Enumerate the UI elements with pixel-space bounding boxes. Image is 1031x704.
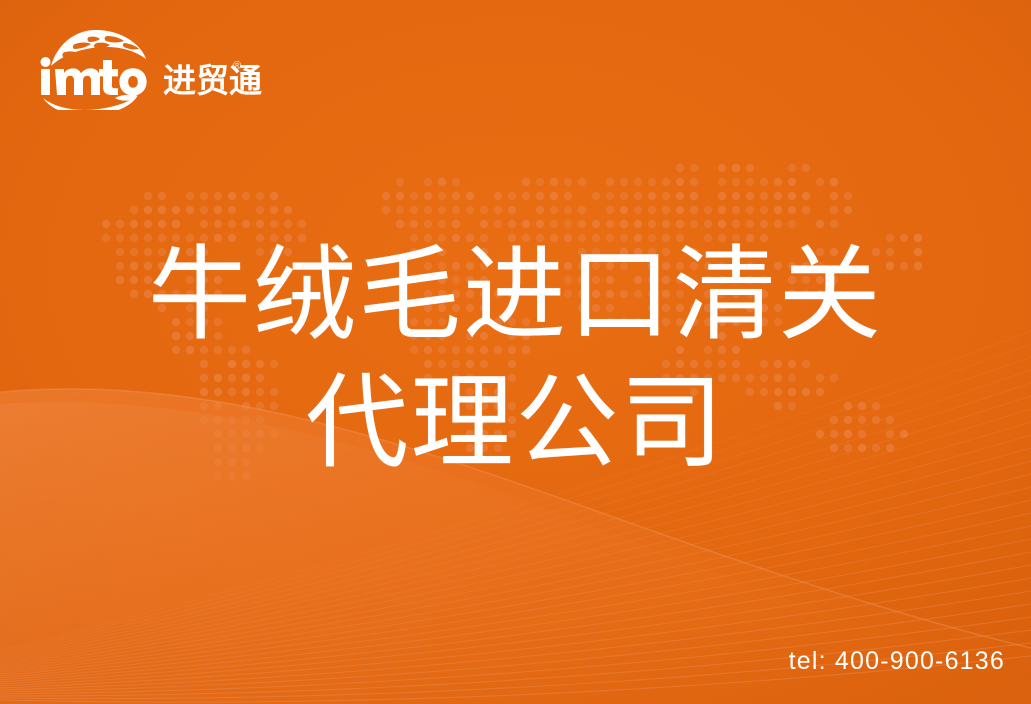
promo-banner: 进贸通 ® 牛绒毛进口清关 代理公司 tel: 400-900-6136 — [0, 0, 1031, 704]
headline-line-1: 牛绒毛进口清关 — [0, 232, 1031, 360]
contact-telephone[interactable]: tel: 400-900-6136 — [789, 647, 1005, 676]
headline-line-2: 代理公司 — [0, 360, 1031, 488]
globe-swoosh-icon — [37, 26, 155, 110]
page-title: 牛绒毛进口清关 代理公司 — [0, 232, 1031, 487]
brand-logo[interactable]: 进贸通 ® — [37, 26, 247, 110]
registered-trademark-icon: ® — [233, 61, 241, 72]
brand-chinese-name: 进贸通 — [163, 64, 262, 97]
